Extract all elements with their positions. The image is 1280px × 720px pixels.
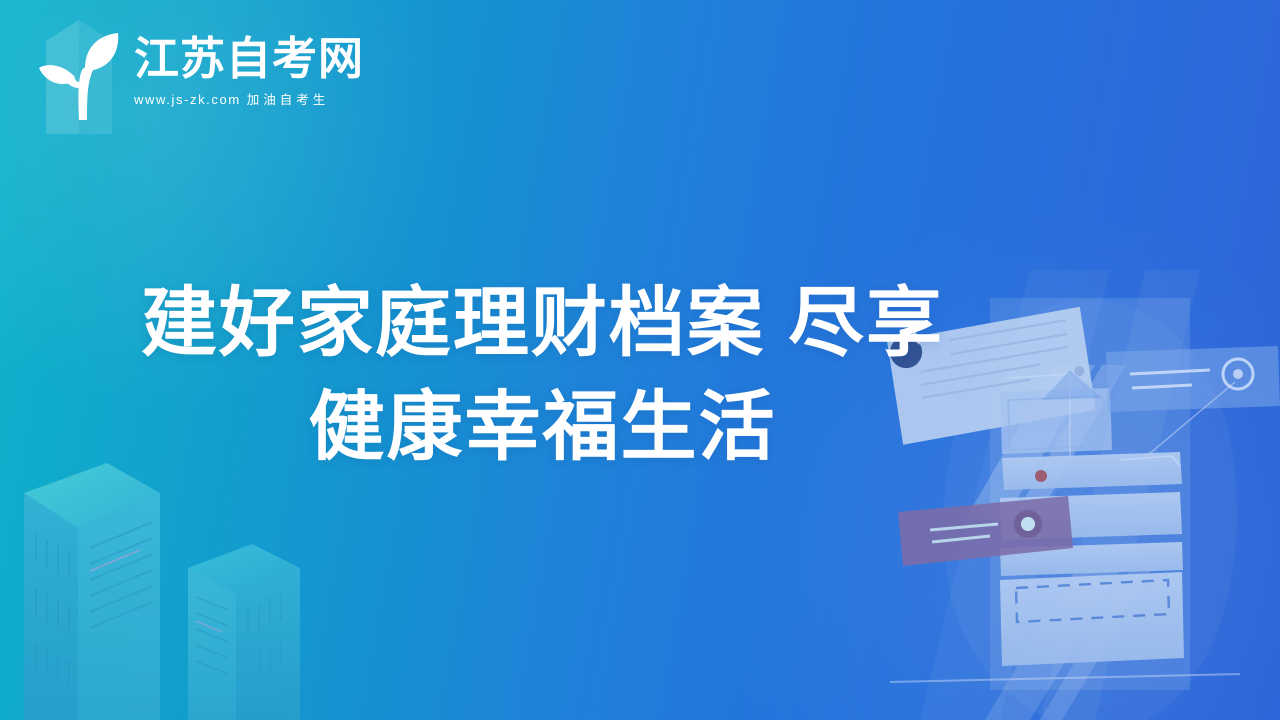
sprout-leaf-logo (32, 16, 128, 134)
logo-subtitle: www.js-zk.com加油自考生 (134, 92, 364, 108)
tower-short (188, 544, 300, 720)
logo-slogan: 加油自考生 (247, 93, 330, 107)
logo-title: 江苏自考网 (134, 34, 364, 84)
tag-bar-ring (1106, 346, 1280, 412)
tower-tall (24, 463, 160, 720)
headline-line-1: 建好家庭理财档案 尽享 (0, 272, 1085, 376)
logo-url: www.js-zk.com (134, 92, 241, 107)
page-title: 建好家庭理财档案 尽享 健康幸福生活 (0, 272, 1085, 480)
sprout-icon (38, 30, 124, 122)
headline-line-2: 健康幸福生活 (0, 376, 1085, 480)
promo-banner: 江苏自考网 www.js-zk.com加油自考生 建好家庭理财档案 尽享 健康幸… (0, 0, 1280, 720)
site-logo[interactable]: 江苏自考网 www.js-zk.com加油自考生 (32, 16, 364, 128)
decorative-towers (0, 440, 420, 720)
